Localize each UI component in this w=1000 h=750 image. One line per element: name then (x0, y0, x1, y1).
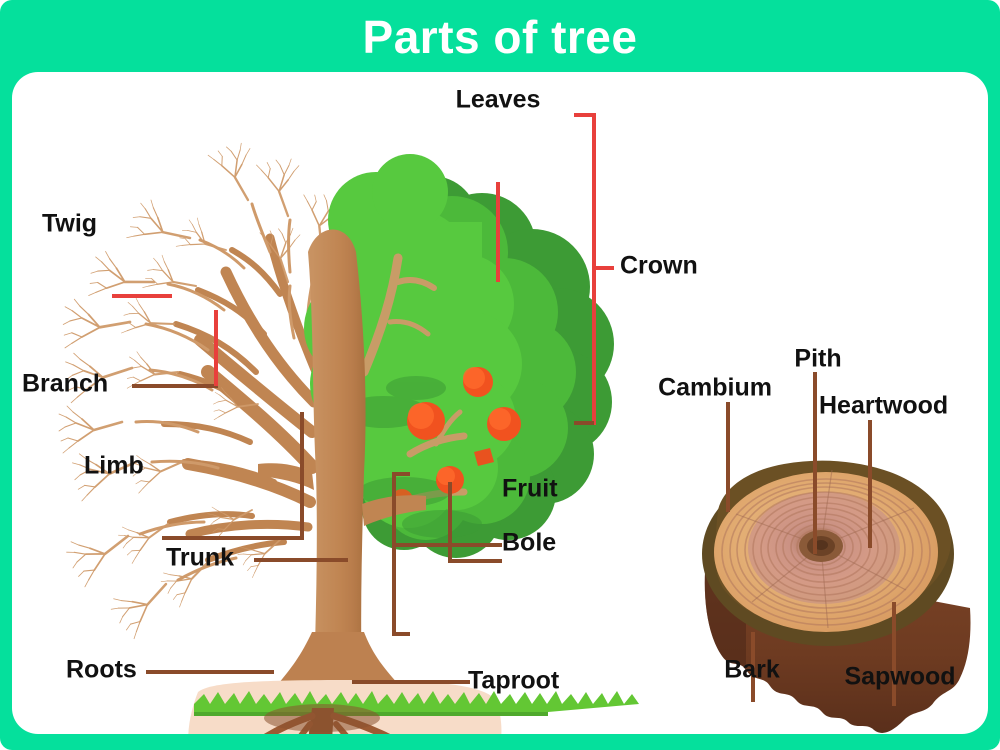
bole-bracket-spine (392, 472, 396, 636)
leader-limb-v (300, 412, 304, 536)
label-roots: Roots (66, 658, 137, 683)
crown-bracket-bottom (574, 421, 594, 425)
label-limb: Limb (84, 454, 144, 479)
leader-heartwood (868, 420, 872, 548)
leader-twig (112, 294, 172, 298)
label-bark: Bark (724, 658, 780, 683)
crown-bracket-stem (592, 266, 614, 270)
leader-branch-h (132, 384, 218, 388)
label-sapwood: Sapwood (844, 665, 955, 690)
bole-bracket-stem (392, 543, 502, 547)
label-cambium: Cambium (658, 376, 772, 401)
poster-root: Parts of tree (0, 0, 1000, 750)
label-fruit: Fruit (502, 477, 558, 502)
crown-bracket-top (574, 113, 594, 117)
label-heartwood: Heartwood (819, 394, 948, 419)
ground-and-roots (188, 680, 639, 734)
label-leaves: Leaves (456, 88, 541, 113)
label-pith: Pith (794, 347, 841, 372)
leader-cambium (726, 402, 730, 512)
leader-fruit-h (448, 559, 502, 563)
leader-limb-h (162, 536, 304, 540)
leader-branch-v (214, 310, 218, 386)
bole-bracket-bottom (392, 632, 410, 636)
content-card: Twig Leaves Crown Branch Limb Fruit Bole… (12, 72, 988, 734)
leader-leaves (496, 182, 500, 282)
label-taproot: Taproot (468, 669, 559, 694)
label-branch: Branch (22, 372, 108, 397)
leader-fruit-v (448, 482, 452, 561)
leader-trunk (254, 558, 348, 562)
leader-roots (146, 670, 274, 674)
bole-bracket-top (392, 472, 410, 476)
label-twig: Twig (42, 212, 97, 237)
page-title: Parts of tree (0, 6, 1000, 68)
label-trunk: Trunk (166, 546, 234, 571)
diagram-stage: Twig Leaves Crown Branch Limb Fruit Bole… (12, 72, 988, 734)
leader-taproot (352, 680, 470, 684)
stump-cross-section (702, 461, 971, 733)
label-crown: Crown (620, 254, 698, 279)
label-bole: Bole (502, 531, 556, 556)
leader-pith (813, 372, 817, 554)
